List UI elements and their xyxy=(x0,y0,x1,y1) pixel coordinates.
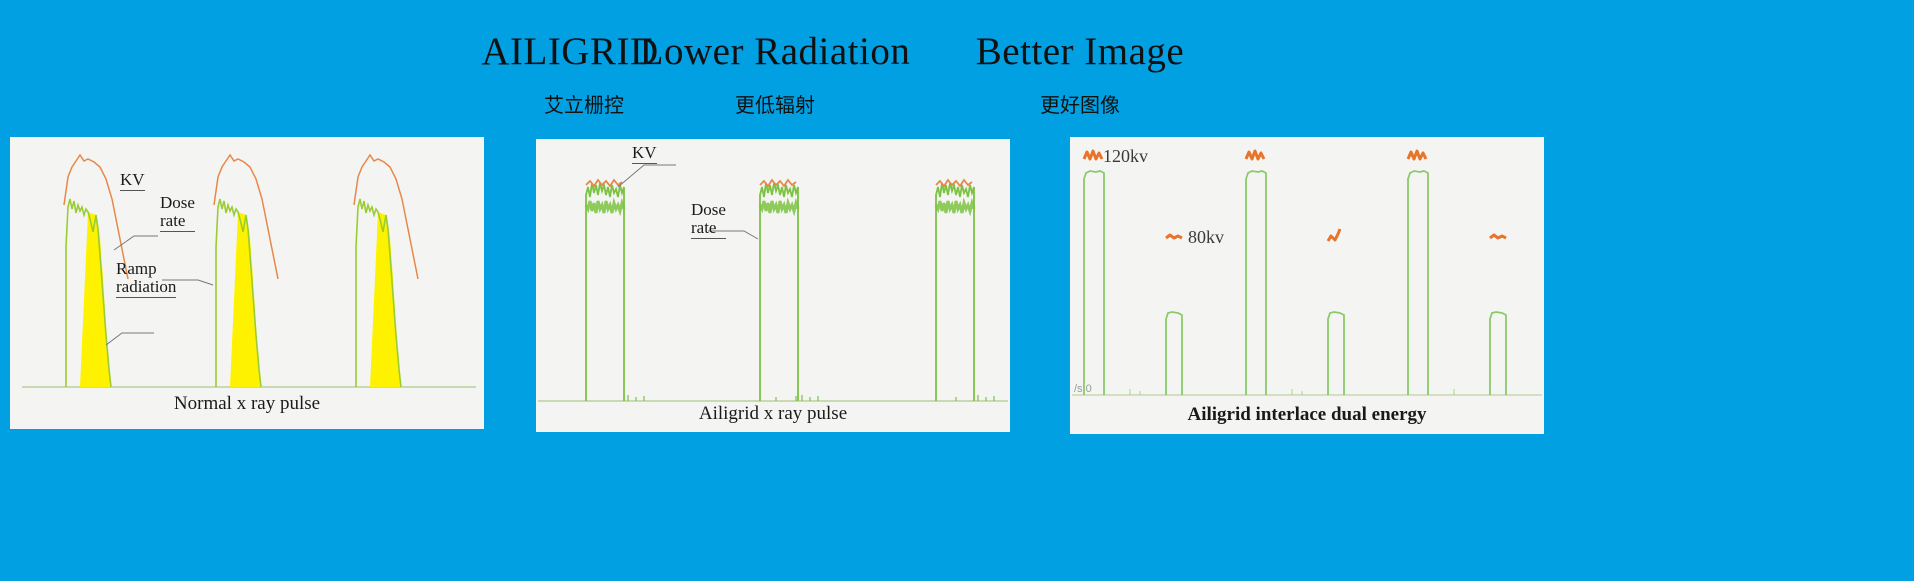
kv-marker-120-1 xyxy=(1084,151,1102,159)
legend-label-120kv: 120kv xyxy=(1103,146,1148,167)
dose-pulse-1 xyxy=(586,183,624,401)
ailigrid-pulse-svg xyxy=(536,139,1010,432)
ramp-fill-1 xyxy=(80,212,111,387)
dose-noise-3 xyxy=(936,201,974,213)
baseline-ticks-3 xyxy=(978,395,994,401)
dose-pulse-3 xyxy=(936,183,974,401)
kv-marker-80-1 xyxy=(1166,235,1182,238)
chart-panel-normal: KV Dose rate Ramp radiation Normal x ray… xyxy=(10,137,484,429)
chart-plot-interlace xyxy=(1070,137,1544,434)
kv-marker-120-2 xyxy=(1246,151,1264,159)
dose-pulse-2 xyxy=(760,183,798,401)
pulse-80kv-3 xyxy=(1490,312,1506,395)
pulse-120kv-2 xyxy=(1246,171,1266,395)
pulse-120kv-3 xyxy=(1408,171,1428,395)
heading-chinese-1: 更低辐射 xyxy=(635,89,915,118)
pulse-80kv-1 xyxy=(1166,312,1182,395)
normal-pulse-svg xyxy=(10,137,484,429)
annotation-dose-rate: Dose rate xyxy=(691,201,726,239)
leader-ramp xyxy=(106,333,154,345)
heading-english-1: Lower Radiation xyxy=(635,32,915,71)
ramp-fill-3 xyxy=(370,212,401,387)
pulse-120kv-1 xyxy=(1084,171,1104,395)
baseline-ticks-1 xyxy=(628,395,796,401)
slide-root: AILIGRID 艾立栅控 Lower Radiation 更低辐射 Bette… xyxy=(0,0,1914,581)
ramp-fill-2 xyxy=(230,212,261,387)
chart-plot-ailigrid xyxy=(536,139,1010,432)
kv-marker-80-2 xyxy=(1328,229,1340,241)
chart-panel-ailigrid: KV Dose rate Ailigrid x ray pulse xyxy=(536,139,1010,432)
dose-noise-2 xyxy=(760,201,798,213)
heading-chinese-2: 更好图像 xyxy=(940,89,1220,118)
heading-english-2: Better Image xyxy=(940,32,1220,71)
axis-tick-label: /s 0 xyxy=(1074,383,1092,395)
annotation-kv: KV xyxy=(120,171,145,191)
chart-panel-interlace: 120kv 80kv /s 0 Ailigrid interlace dual … xyxy=(1070,137,1544,434)
panel-caption-interlace: Ailigrid interlace dual energy xyxy=(1070,404,1544,426)
leader-kv xyxy=(618,165,676,187)
kv-marker-120-3 xyxy=(1408,151,1426,159)
annotation-ramp-radiation: Ramp radiation xyxy=(116,260,176,298)
baseline-ticks xyxy=(1130,389,1454,395)
panel-caption-normal: Normal x ray pulse xyxy=(10,393,484,415)
annotation-kv: KV xyxy=(632,144,657,164)
baseline-ticks-2 xyxy=(802,395,956,401)
headings-row: AILIGRID 艾立栅控 Lower Radiation 更低辐射 Bette… xyxy=(0,0,1914,135)
heading-block-2: Better Image 更好图像 xyxy=(940,32,1220,118)
legend-label-80kv: 80kv xyxy=(1188,227,1224,248)
chart-plot-normal xyxy=(10,137,484,429)
heading-block-1: Lower Radiation 更低辐射 xyxy=(635,32,915,118)
kv-marker-80-3 xyxy=(1490,235,1506,238)
annotation-dose-rate: Dose rate xyxy=(160,194,195,232)
panel-caption-ailigrid: Ailigrid x ray pulse xyxy=(536,403,1010,425)
interlace-pulse-svg xyxy=(1070,137,1544,434)
pulse-80kv-2 xyxy=(1328,312,1344,395)
dose-noise-1 xyxy=(586,201,624,213)
